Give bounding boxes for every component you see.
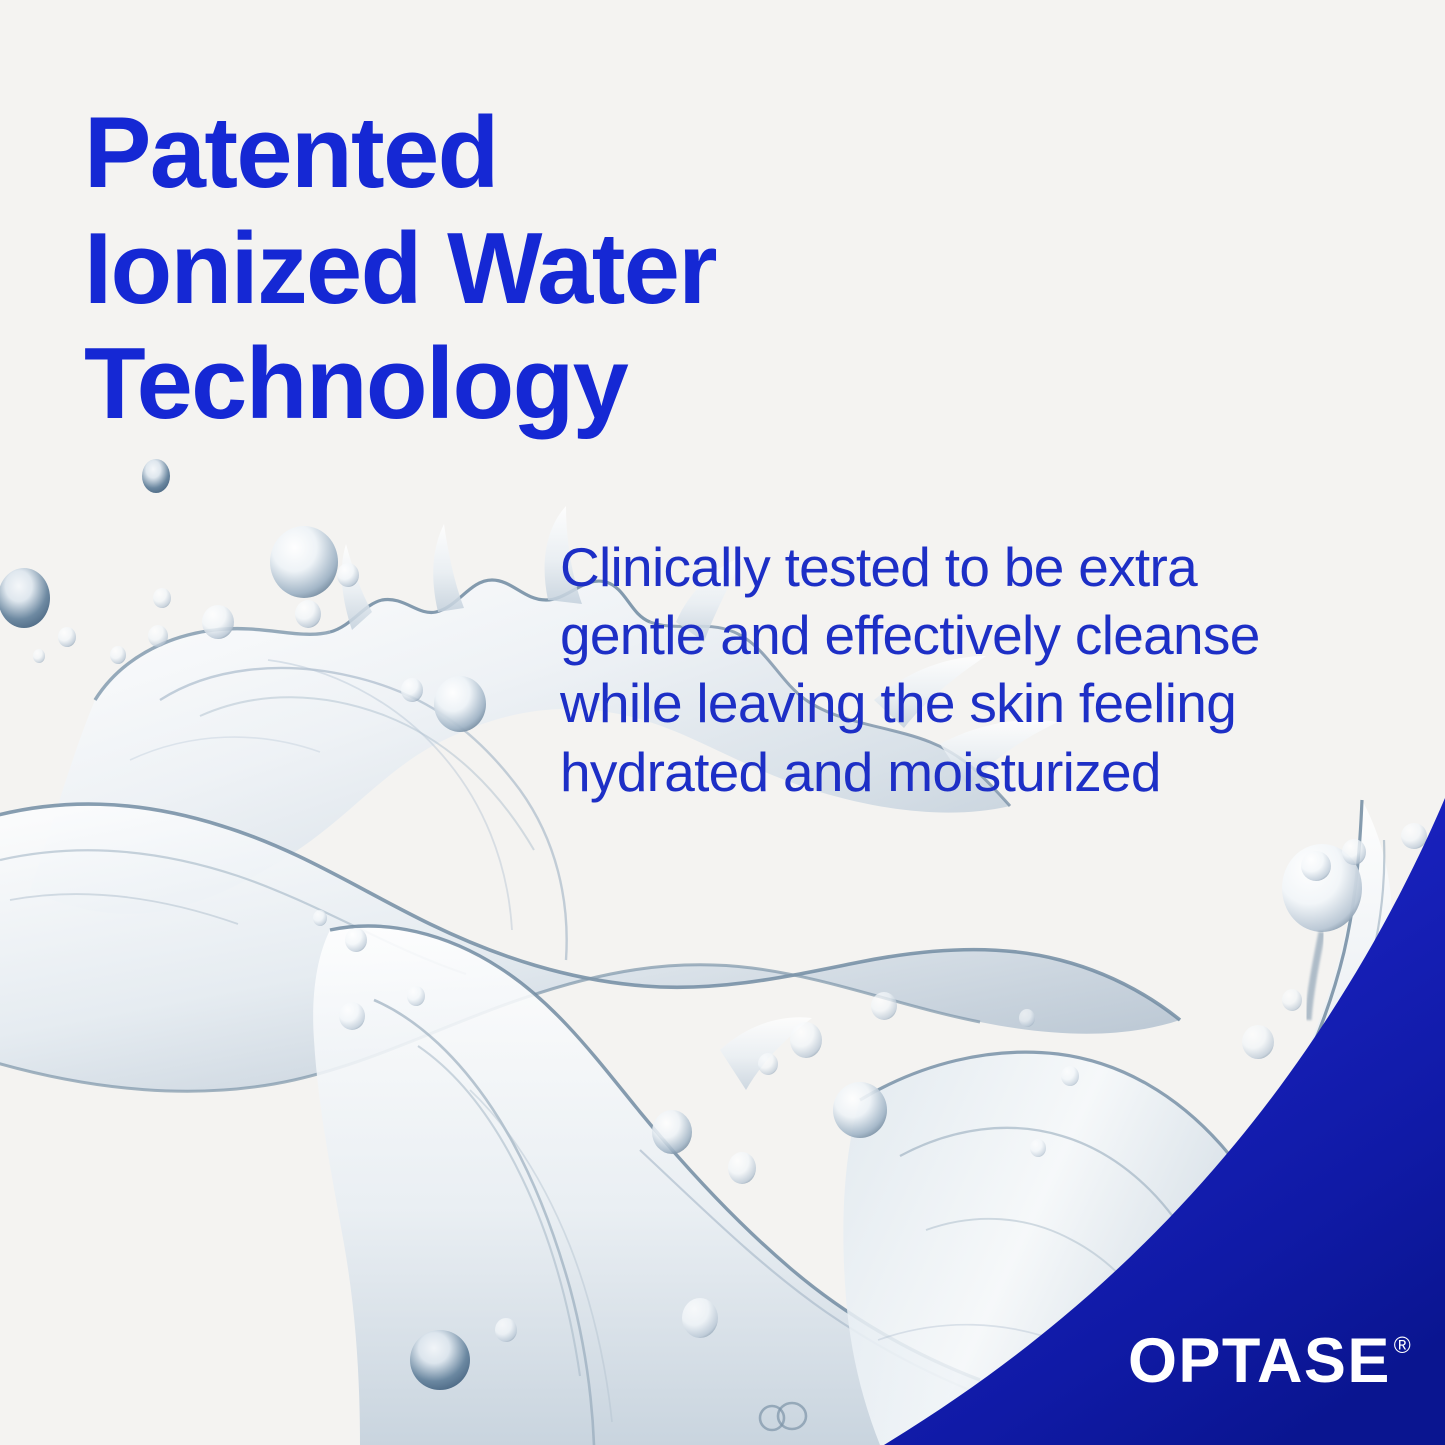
product-description: Clinically tested to be extra gentle and…: [560, 533, 1390, 806]
water-sheet-center: [313, 926, 1136, 1445]
promo-banner: Patented Ionized Water Technology Clinic…: [0, 0, 1445, 1445]
water-jet-right: [1166, 800, 1392, 1268]
brand-logo: OPTASE ®: [1128, 1330, 1411, 1393]
registered-trademark-icon: ®: [1394, 1334, 1411, 1357]
page-title: Patented Ionized Water Technology: [84, 96, 964, 443]
brand-wordmark: OPTASE: [1128, 1330, 1391, 1393]
water-wave-band-left: [0, 804, 1180, 1091]
